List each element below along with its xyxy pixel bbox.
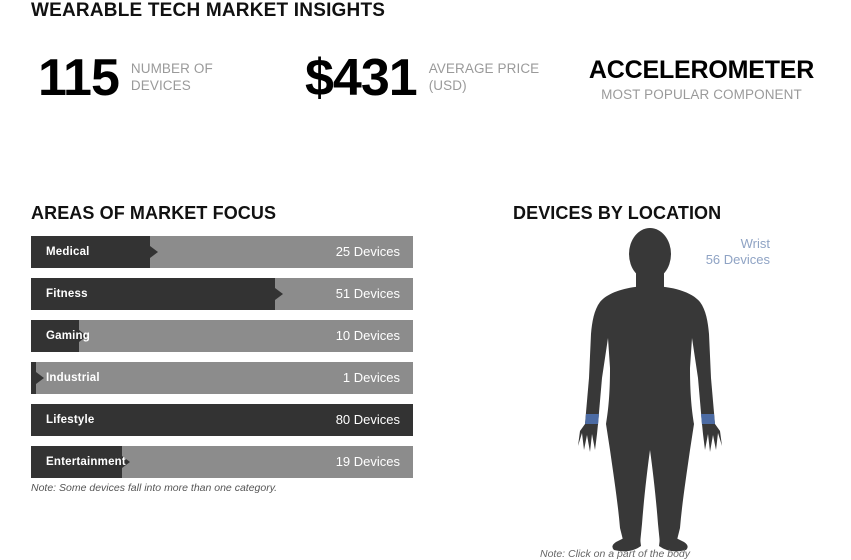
page-title: WEARABLE TECH MARKET INSIGHTS bbox=[31, 0, 385, 22]
bar-row[interactable]: Fitness51 Devices bbox=[31, 278, 413, 310]
torso-and-legs-shape[interactable] bbox=[589, 286, 711, 544]
kpi-average-price: $431 AVERAGE PRICE (USD) bbox=[305, 52, 549, 104]
kpi-price-label: AVERAGE PRICE (USD) bbox=[417, 52, 549, 94]
body-silhouette[interactable] bbox=[540, 228, 760, 554]
bars-footnote: Note: Some devices fall into more than o… bbox=[31, 482, 277, 494]
bar-value-label: 25 Devices bbox=[336, 236, 400, 268]
kpi-component-value: ACCELEROMETER bbox=[569, 56, 834, 84]
devices-by-location-panel: Wrist 56 Devices bbox=[500, 228, 800, 554]
right-wristband-highlight[interactable] bbox=[701, 414, 715, 425]
kpi-component-label: MOST POPULAR COMPONENT bbox=[569, 86, 834, 103]
body-footnote: Note: Click on a part of the body bbox=[540, 548, 840, 560]
right-hand-shape[interactable] bbox=[702, 424, 722, 452]
kpi-number-of-devices: 115 NUMBER OF DEVICES bbox=[38, 52, 251, 104]
bar-value-label: 51 Devices bbox=[336, 278, 400, 310]
body-section-title: DEVICES BY LOCATION bbox=[513, 203, 721, 224]
bar-value-label: 80 Devices bbox=[336, 404, 400, 436]
bar-category-label: Industrial bbox=[46, 362, 100, 394]
market-focus-bar-chart: Medical25 DevicesFitness51 DevicesGaming… bbox=[31, 236, 413, 488]
kpi-devices-label: NUMBER OF DEVICES bbox=[119, 52, 251, 94]
bar-value-label: 19 Devices bbox=[336, 446, 400, 478]
left-wristband-highlight[interactable] bbox=[585, 414, 599, 425]
left-hand-shape[interactable] bbox=[578, 424, 598, 452]
kpi-most-popular-component: ACCELEROMETER MOST POPULAR COMPONENT bbox=[569, 56, 834, 103]
bar-value-label: 10 Devices bbox=[336, 320, 400, 352]
bar-row[interactable]: Entertainment19 Devices bbox=[31, 446, 413, 478]
bar-category-label: Medical bbox=[46, 236, 90, 268]
bar-row[interactable]: Medical25 Devices bbox=[31, 236, 413, 268]
bar-category-label: Fitness bbox=[46, 278, 88, 310]
bar-pointer-icon bbox=[150, 246, 158, 258]
bar-row[interactable]: Gaming10 Devices bbox=[31, 320, 413, 352]
bar-row[interactable]: Lifestyle80 Devices bbox=[31, 404, 413, 436]
bar-value-label: 1 Devices bbox=[343, 362, 400, 394]
bar-pointer-icon bbox=[36, 372, 44, 384]
kpi-price-value: $431 bbox=[305, 52, 417, 104]
bar-category-label: Lifestyle bbox=[46, 404, 94, 436]
bar-pointer-icon bbox=[275, 288, 283, 300]
bar-category-label: Entertainment bbox=[46, 446, 126, 478]
bars-section-title: AREAS OF MARKET FOCUS bbox=[31, 203, 276, 224]
bar-category-label: Gaming bbox=[46, 320, 90, 352]
kpi-devices-value: 115 bbox=[38, 52, 119, 104]
bar-row[interactable]: Industrial1 Devices bbox=[31, 362, 413, 394]
